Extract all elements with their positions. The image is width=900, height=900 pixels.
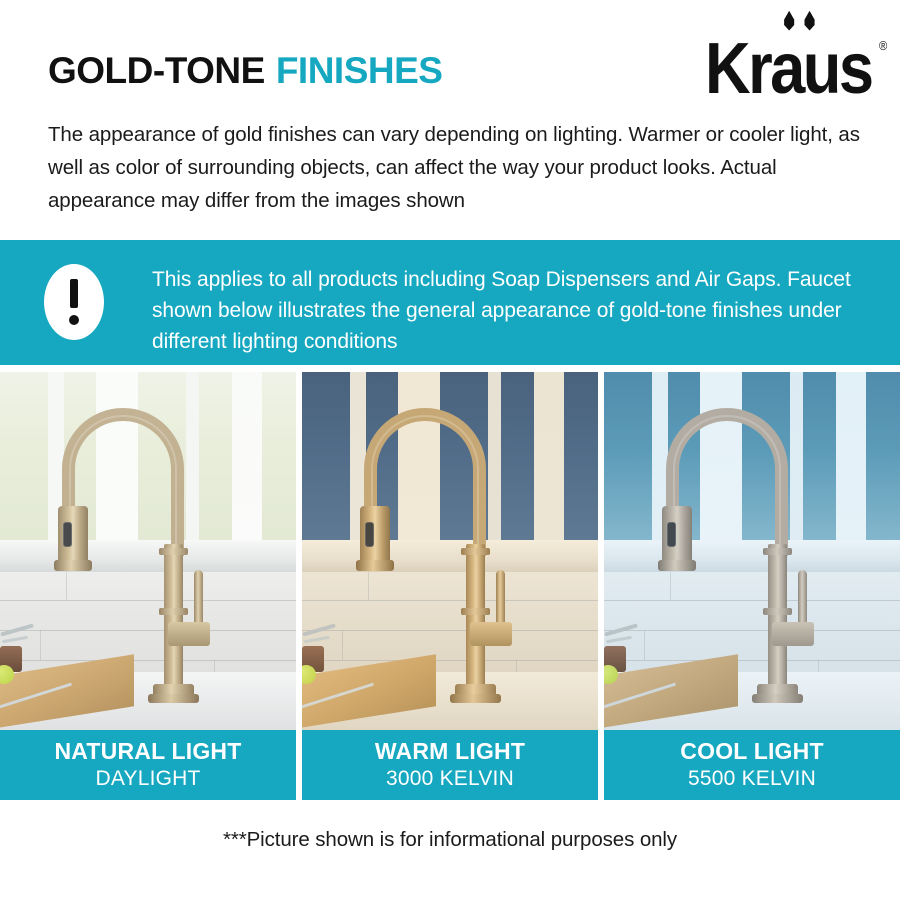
- page-title-accent: FINISHES: [276, 50, 443, 92]
- page-title: GOLD-TONE FINISHES: [48, 50, 442, 92]
- caption-sub: 5500 KELVIN: [688, 766, 816, 792]
- faucet-handle-hub: [168, 622, 210, 646]
- background-fixture-arm: [0, 623, 34, 636]
- faucet-spray-button: [365, 522, 374, 547]
- caption-main: NATURAL LIGHT: [54, 738, 241, 765]
- faucet-spray-nozzle: [658, 560, 696, 571]
- faucet-natural: [52, 394, 242, 730]
- infographic-page: GOLD-TONE FINISHES Kraus ® The appearanc…: [0, 0, 900, 900]
- caption-sub: DAYLIGHT: [95, 766, 200, 792]
- faucet-warm: [354, 394, 544, 730]
- kraus-logo-wordmark: Kraus ®: [705, 34, 872, 106]
- faucet-handle-hub: [470, 622, 512, 646]
- umlaut-droplet-right-icon: [803, 11, 816, 31]
- faucet-spray-nozzle: [356, 560, 394, 571]
- background-fixture-arm: [606, 636, 632, 643]
- faucet-spray-button: [63, 522, 72, 547]
- faucet-photo-natural-light: [0, 372, 296, 730]
- exclamation-stem: [70, 279, 78, 308]
- umlaut-droplet-left-icon: [782, 11, 795, 31]
- panel-warm-light[interactable]: WARM LIGHT 3000 KELVIN: [302, 372, 598, 800]
- panel-cool-light[interactable]: COOL LIGHT 5500 KELVIN: [604, 372, 900, 800]
- faucet-spray-nozzle: [54, 560, 92, 571]
- alert-banner: This applies to all products including S…: [0, 240, 900, 365]
- faucet-collar-ring: [461, 548, 490, 555]
- caption-main: COOL LIGHT: [680, 738, 823, 765]
- exclamation-glyph-icon: [69, 279, 79, 325]
- caption-sub: 3000 KELVIN: [386, 766, 514, 792]
- faucet-handle-hub: [772, 622, 814, 646]
- kraus-logo: Kraus ®: [705, 34, 868, 96]
- faucet-collar-ring: [461, 608, 490, 615]
- intro-paragraph: The appearance of gold finishes can vary…: [48, 118, 868, 217]
- faucet-photo-cool-light: [604, 372, 900, 730]
- faucet-cool: [656, 394, 846, 730]
- faucet-collar-ring: [159, 548, 188, 555]
- comparison-panels: NATURAL LIGHT DAYLIGHT: [0, 372, 900, 800]
- panel-caption-cool-light: COOL LIGHT 5500 KELVIN: [604, 730, 900, 800]
- background-fixture-arm: [304, 636, 330, 643]
- faucet-base-plate: [148, 694, 199, 703]
- panel-caption-warm-light: WARM LIGHT 3000 KELVIN: [302, 730, 598, 800]
- tile-grout-line: [342, 630, 343, 660]
- faucet-column: [164, 544, 183, 692]
- background-fixture-arm: [604, 623, 638, 636]
- faucet-spray-button: [667, 522, 676, 547]
- faucet-photo-warm-light: [302, 372, 598, 730]
- tile-grout-line: [644, 630, 645, 660]
- background-fixture-arm: [302, 623, 336, 636]
- header: GOLD-TONE FINISHES Kraus ® The appearanc…: [0, 0, 900, 240]
- registered-trademark-icon: ®: [879, 41, 885, 54]
- faucet-base-plate: [752, 694, 803, 703]
- panel-natural-light[interactable]: NATURAL LIGHT DAYLIGHT: [0, 372, 296, 800]
- faucet-column: [466, 544, 485, 692]
- panel-caption-natural-light: NATURAL LIGHT DAYLIGHT: [0, 730, 296, 800]
- footer-disclaimer: ***Picture shown is for informational pu…: [0, 828, 900, 852]
- exclamation-icon: [44, 264, 104, 340]
- faucet-collar-ring: [763, 608, 792, 615]
- caption-main: WARM LIGHT: [375, 738, 525, 765]
- tile-grout-line: [40, 630, 41, 660]
- faucet-collar-ring: [763, 548, 792, 555]
- alert-text: This applies to all products including S…: [152, 264, 867, 357]
- page-title-main: GOLD-TONE: [48, 50, 265, 92]
- faucet-column: [768, 544, 787, 692]
- faucet-collar-ring: [159, 608, 188, 615]
- exclamation-dot: [69, 315, 79, 325]
- kraus-logo-text: Kraus: [705, 29, 872, 109]
- faucet-base-plate: [450, 694, 501, 703]
- background-fixture-arm: [2, 636, 28, 643]
